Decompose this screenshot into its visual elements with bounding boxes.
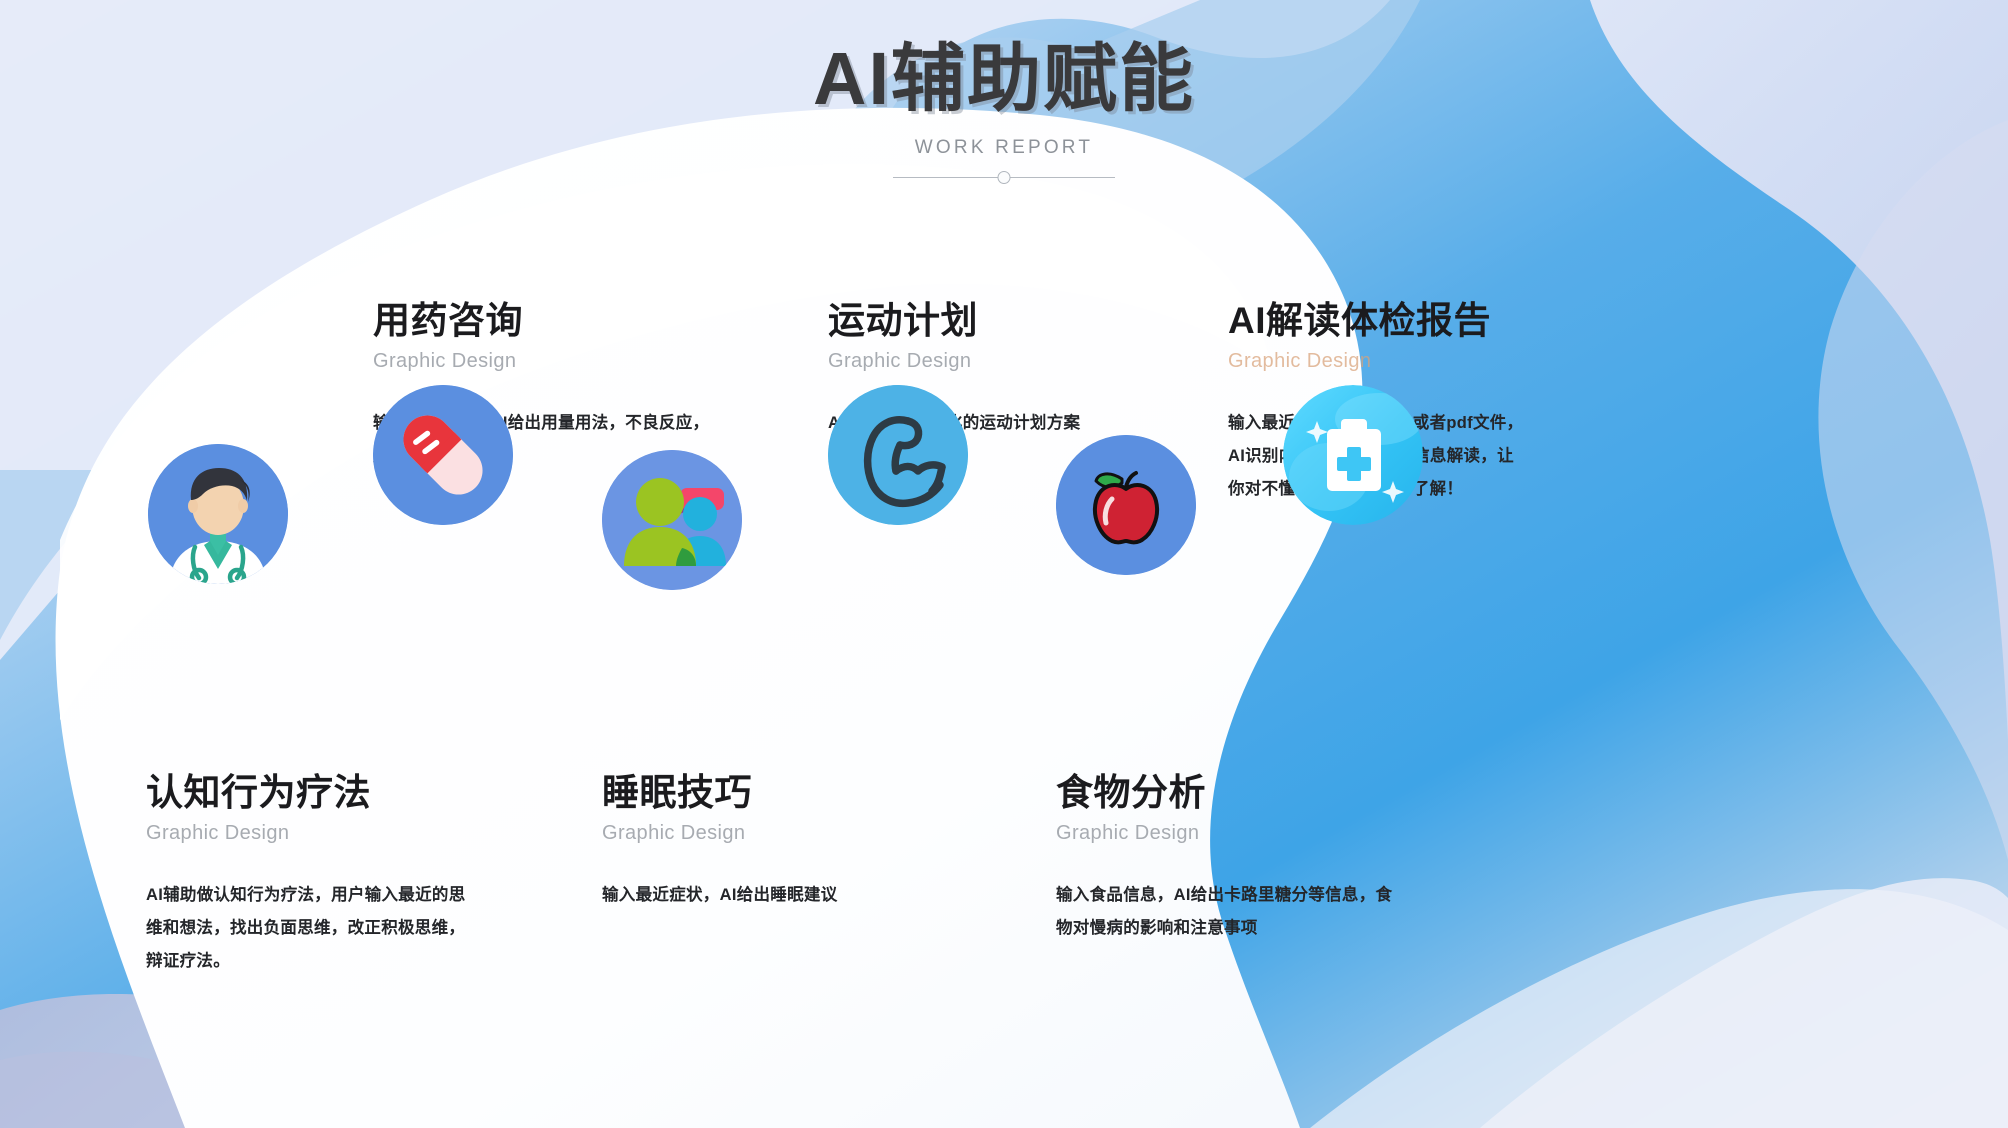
- flexed-bicep-icon-glyph: [828, 385, 968, 525]
- people-chat-icon[interactable]: [602, 450, 742, 590]
- card-title: 用药咨询: [373, 300, 713, 343]
- slide-header: AI辅助赋能 WORK REPORT: [0, 38, 2008, 185]
- card-subtitle: Graphic Design: [146, 822, 476, 845]
- medical-clipboard-icon[interactable]: [1283, 385, 1423, 525]
- card-subtitle: Graphic Design: [373, 350, 713, 373]
- medical-clipboard-icon-glyph: [1283, 385, 1423, 525]
- card-title: 运动计划: [828, 300, 1158, 343]
- card-title: AI解读体检报告: [1228, 300, 1528, 343]
- card-title: 食物分析: [1056, 772, 1396, 815]
- card-description: 输入最近症状，AI给出睡眠建议: [602, 879, 932, 912]
- header-divider: [893, 171, 1115, 185]
- pill-capsule-icon[interactable]: [373, 385, 513, 525]
- apple-icon[interactable]: [1056, 435, 1196, 575]
- card-sleep-tips[interactable]: 睡眠技巧 Graphic Design 输入最近症状，AI给出睡眠建议: [602, 772, 932, 912]
- doctor-icon-glyph: [148, 444, 288, 584]
- page-subtitle: WORK REPORT: [0, 137, 2008, 159]
- card-subtitle: Graphic Design: [1228, 350, 1528, 373]
- people-chat-icon-glyph: [602, 450, 742, 590]
- card-food-analysis[interactable]: 食物分析 Graphic Design 输入食品信息，AI给出卡路里糖分等信息，…: [1056, 772, 1396, 945]
- card-subtitle: Graphic Design: [1056, 822, 1396, 845]
- card-description: 输入食品信息，AI给出卡路里糖分等信息，食物对慢病的影响和注意事项: [1056, 879, 1396, 945]
- card-description: AI辅助做认知行为疗法，用户输入最近的思维和想法，找出负面思维，改正积极思维，辩…: [146, 879, 476, 978]
- apple-icon-glyph: [1056, 435, 1196, 575]
- card-title: 睡眠技巧: [602, 772, 932, 815]
- flexed-bicep-icon[interactable]: [828, 385, 968, 525]
- card-title: 认知行为疗法: [146, 772, 476, 815]
- doctor-icon[interactable]: [148, 444, 288, 584]
- divider-dot: [998, 171, 1011, 184]
- card-subtitle: Graphic Design: [828, 350, 1158, 373]
- card-subtitle: Graphic Design: [602, 822, 932, 845]
- pill-capsule-icon-glyph: [373, 385, 513, 525]
- card-cognitive-therapy[interactable]: 认知行为疗法 Graphic Design AI辅助做认知行为疗法，用户输入最近…: [146, 772, 476, 978]
- slide-canvas: AI辅助赋能 WORK REPORT 认知行为疗法 Graphic Design…: [0, 0, 2008, 1128]
- page-title: AI辅助赋能: [0, 38, 2008, 121]
